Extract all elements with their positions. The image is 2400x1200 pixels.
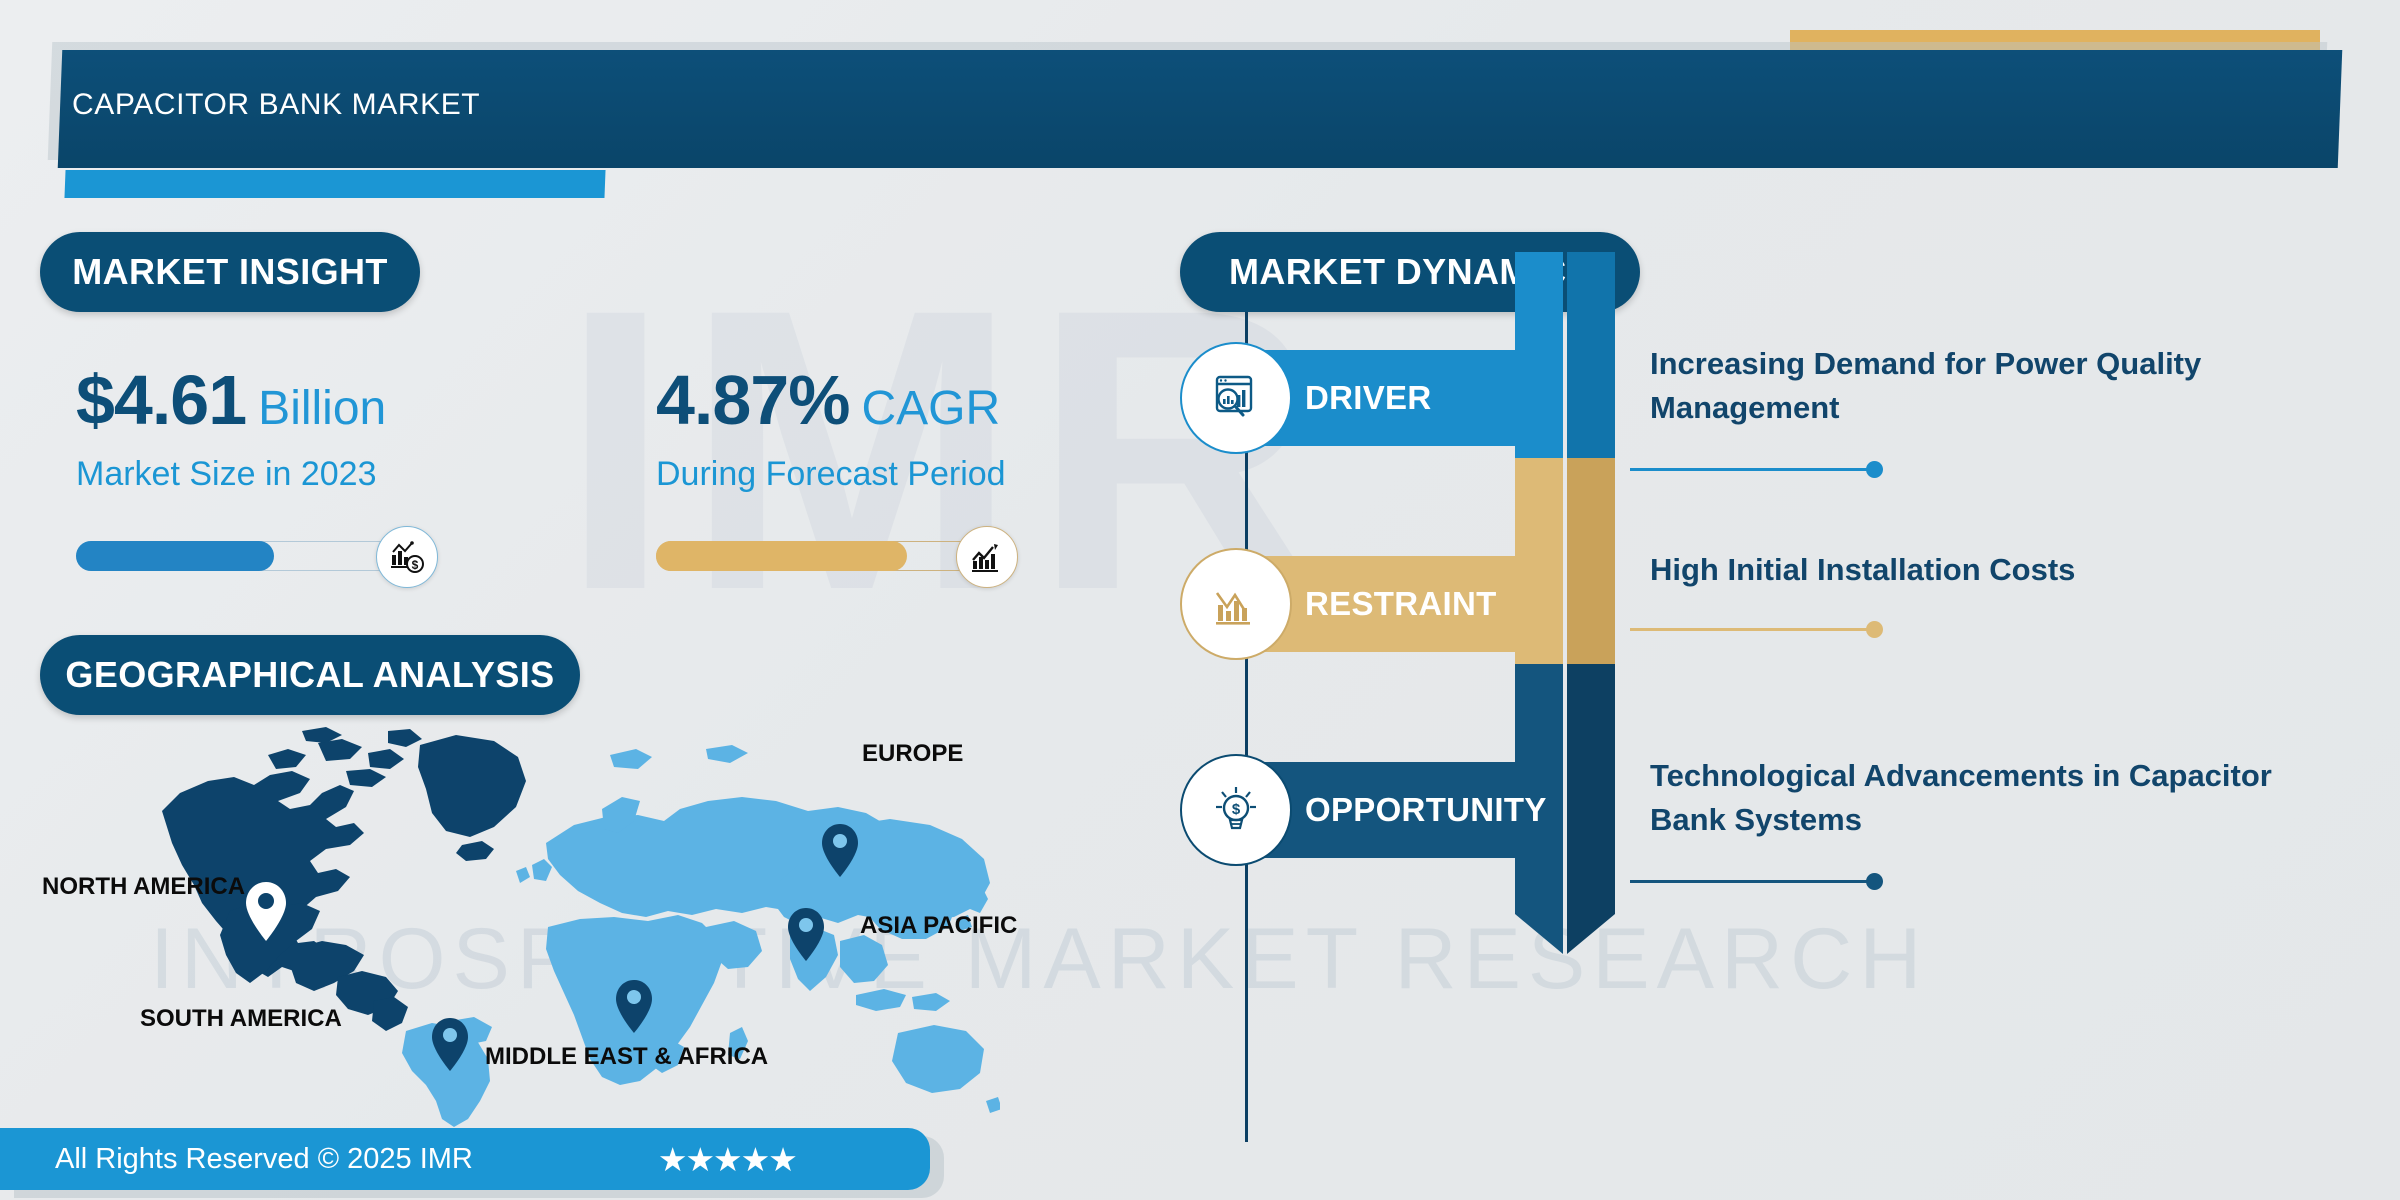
dynamics-item-driver: DRIVER Increasing Demand for Power Quali… — [1180, 350, 2380, 540]
stat-value-row: $4.61Billion — [76, 365, 636, 435]
declining-bar-chart-icon — [1180, 548, 1292, 660]
map-label-europe: EUROPE — [862, 740, 963, 768]
restraint-label: RESTRAINT — [1305, 556, 1497, 652]
restraint-ribbon: RESTRAINT — [1180, 556, 1535, 652]
analytics-search-icon — [1180, 342, 1292, 454]
restraint-text: High Initial Installation Costs — [1650, 548, 2350, 592]
footer-copyright: All Rights Reserved © 2025 IMR — [55, 1143, 473, 1176]
header-blue-accent — [64, 170, 605, 198]
stat-unit: Billion — [258, 382, 386, 435]
progress-fill — [656, 541, 907, 571]
infographic-root: IMR INTROSPECTIVE MARKET RESEARCH CAPACI… — [0, 0, 2400, 1200]
stat-market-size: $4.61Billion Market Size in 2023 $ — [76, 365, 636, 588]
driver-label: DRIVER — [1305, 350, 1432, 446]
stat-value-row: 4.87%CAGR — [656, 365, 1216, 435]
driver-text: Increasing Demand for Power Quality Mana… — [1650, 342, 2350, 430]
opportunity-ribbon: $ OPPORTUNITY — [1180, 762, 1535, 858]
restraint-underline — [1630, 628, 1875, 631]
market-dynamics-flow: DRIVER Increasing Demand for Power Quali… — [1180, 312, 2380, 1200]
svg-text:$: $ — [1232, 801, 1241, 818]
map-label-middle-east-africa: MIDDLE EAST & AFRICA — [485, 1043, 768, 1071]
stat-value: $4.61 — [76, 361, 246, 439]
stat-caption: During Forecast Period — [656, 455, 1216, 494]
stat-value: 4.87% — [656, 361, 849, 439]
page-title: CAPACITOR BANK MARKET — [72, 88, 480, 122]
stat-progress — [656, 526, 1216, 588]
growth-chart-arrow-icon — [956, 526, 1018, 588]
map-label-south-america: SOUTH AMERICA — [140, 1005, 342, 1033]
opportunity-underline — [1630, 880, 1875, 883]
opportunity-text: Technological Advancements in Capacitor … — [1650, 754, 2350, 842]
driver-ribbon: DRIVER — [1180, 350, 1535, 446]
geographical-analysis-heading: GEOGRAPHICAL ANALYSIS — [40, 635, 580, 715]
svg-text:$: $ — [412, 558, 419, 572]
stat-unit: CAGR — [861, 382, 1000, 435]
lightbulb-dollar-icon: $ — [1180, 754, 1292, 866]
progress-fill — [76, 541, 274, 571]
driver-underline — [1630, 468, 1875, 471]
footer-bar: All Rights Reserved © 2025 IMR ★★★★★ — [0, 1128, 930, 1190]
dynamics-item-restraint: RESTRAINT High Initial Installation Cost… — [1180, 556, 2380, 746]
stat-cagr: 4.87%CAGR During Forecast Period — [656, 365, 1216, 588]
stat-caption: Market Size in 2023 — [76, 455, 636, 494]
footer-rating-stars: ★★★★★ — [658, 1140, 796, 1179]
dynamics-item-opportunity: $ OPPORTUNITY Technological Advancements… — [1180, 762, 2380, 952]
map-label-asia-pacific: ASIA PACIFIC — [860, 912, 1017, 940]
opportunity-label: OPPORTUNITY — [1305, 762, 1547, 858]
stat-progress: $ — [76, 526, 636, 588]
market-insight-heading: MARKET INSIGHT — [40, 232, 420, 312]
bar-chart-dollar-icon: $ — [376, 526, 438, 588]
map-label-north-america: NORTH AMERICA — [42, 873, 245, 901]
